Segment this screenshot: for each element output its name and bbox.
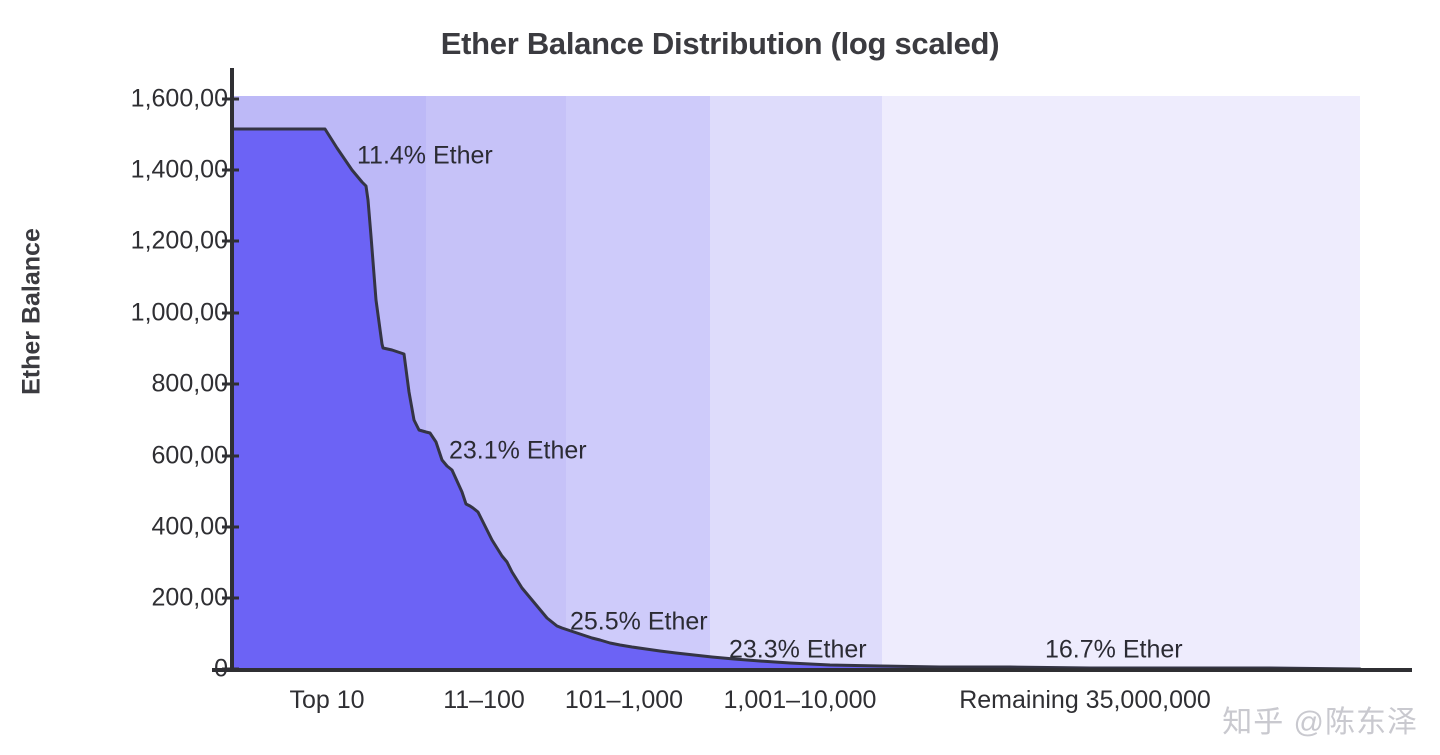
- annotation-11-100: 23.1% Ether: [449, 437, 587, 466]
- x-tick-label-101-1000: 101–1,000: [565, 686, 683, 715]
- x-tick-label-11-100: 11–100: [443, 686, 525, 715]
- y-tick-label: 1,400,00: [28, 156, 228, 185]
- y-tick-label: 1,600,00: [28, 85, 228, 114]
- y-tick-label: 1,000,00: [28, 299, 228, 328]
- y-tick-label: 800,00: [28, 370, 228, 399]
- y-tick-label: 200,00: [28, 584, 228, 613]
- chart-root: Ether Balance Distribution (log scaled) …: [0, 0, 1440, 755]
- y-tick-label: 1,200,00: [28, 227, 228, 256]
- plot-area: 1,600,00 1,400,00 1,200,00 1,000,00 800,…: [0, 0, 1440, 755]
- y-tick-label: 600,00: [28, 442, 228, 471]
- band-101-1000: [566, 96, 710, 669]
- y-tick-label: 0: [28, 655, 228, 684]
- x-tick-label-top-10: Top 10: [289, 686, 364, 715]
- watermark: 知乎 @陈东泽: [1222, 697, 1418, 741]
- x-tick-label-remaining: Remaining 35,000,000: [959, 686, 1211, 715]
- annotation-top-10: 11.4% Ether: [357, 142, 493, 171]
- band-remaining: [882, 96, 1360, 669]
- y-tick-label: 400,00: [28, 513, 228, 542]
- annotation-1001-10000: 23.3% Ether: [729, 636, 867, 665]
- band-1001-10000: [710, 96, 882, 669]
- x-tick-label-1001-10000: 1,001–10,000: [724, 686, 877, 715]
- annotation-remaining: 16.7% Ether: [1045, 636, 1183, 665]
- annotation-101-1000: 25.5% Ether: [570, 608, 708, 637]
